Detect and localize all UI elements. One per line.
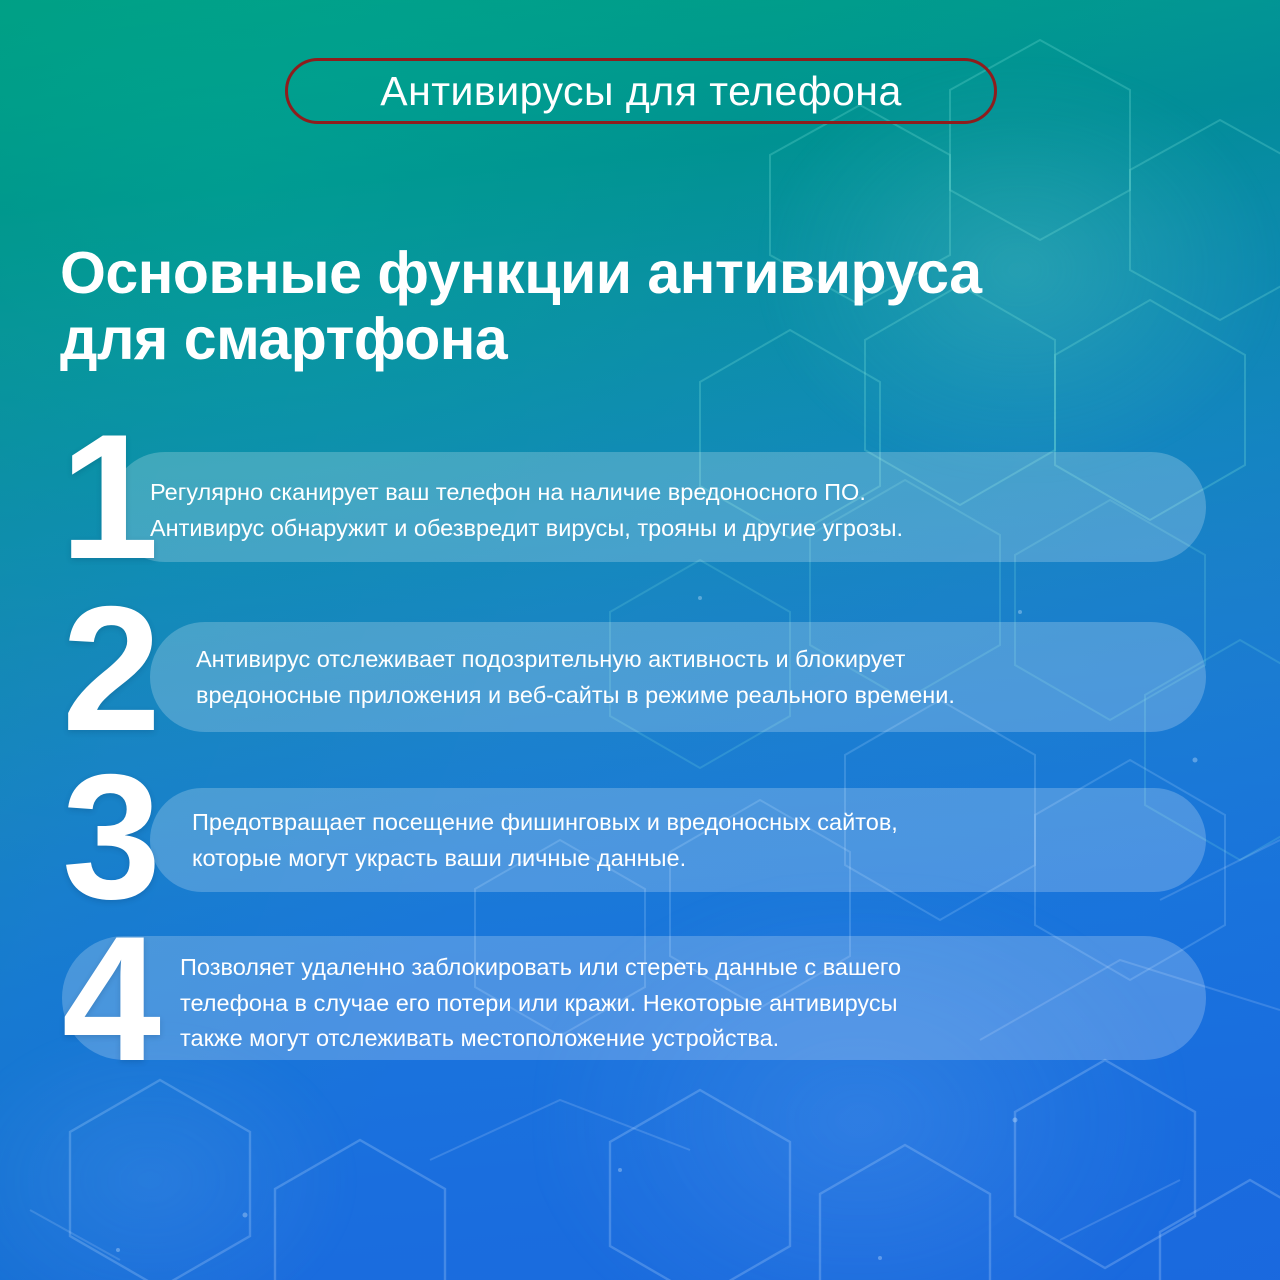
infographic-slide: Антивирусы для телефона Основные функции… xyxy=(0,0,1280,1280)
item-text-line-1: Предотвращает посещение фишинговых и вре… xyxy=(192,805,898,841)
title-badge-label: Антивирусы для телефона xyxy=(380,71,902,112)
page-title-line-2: для смартфона xyxy=(60,306,1180,372)
item-number: 3 xyxy=(62,768,157,907)
item-text: Предотвращает посещение фишинговых и вре… xyxy=(192,805,898,876)
item-number: 4 xyxy=(62,930,157,1069)
item-text-line-3: также могут отслеживать местоположение у… xyxy=(180,1021,901,1057)
item-text-line-1: Антивирус отслеживает подозрительную акт… xyxy=(196,642,955,678)
item-text-line-2: вредоносные приложения и веб-сайты в реж… xyxy=(196,678,955,714)
item-text-line-1: Регулярно сканирует ваш телефон на налич… xyxy=(150,475,903,511)
item-text: Антивирус отслеживает подозрительную акт… xyxy=(196,642,955,713)
item-text-line-2: телефона в случае его потери или кражи. … xyxy=(180,986,901,1022)
page-title: Основные функции антивируса для смартфон… xyxy=(60,240,1180,372)
title-badge: Антивирусы для телефона xyxy=(285,58,997,124)
item-text-line-2: Антивирус обнаружит и обезвредит вирусы,… xyxy=(150,511,903,547)
item-text-line-1: Позволяет удаленно заблокировать или сте… xyxy=(180,950,901,986)
item-text: Регулярно сканирует ваш телефон на налич… xyxy=(150,475,903,546)
item-text-line-2: которые могут украсть ваши личные данные… xyxy=(192,841,898,877)
page-title-line-1: Основные функции антивируса xyxy=(60,240,1180,306)
item-number: 2 xyxy=(62,600,157,739)
item-text: Позволяет удаленно заблокировать или сте… xyxy=(180,950,901,1057)
item-number: 1 xyxy=(60,428,155,567)
